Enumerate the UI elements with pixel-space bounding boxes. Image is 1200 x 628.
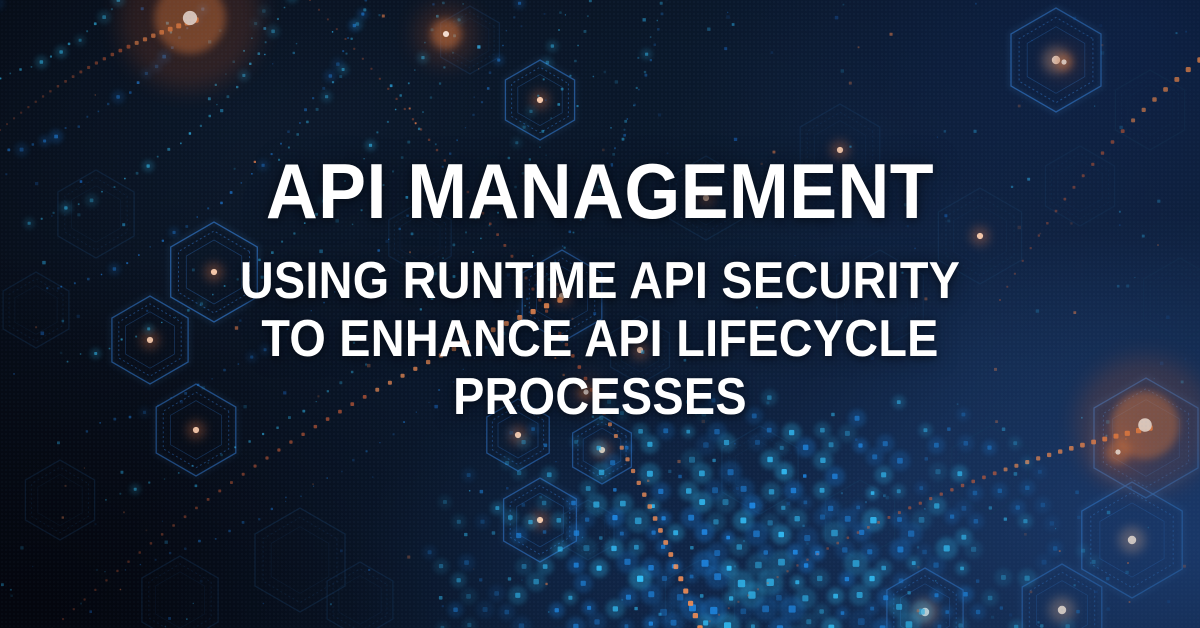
hexagon-outline-icon <box>562 500 614 560</box>
hexagon-outline-icon <box>952 426 1028 514</box>
glowing-orange-node <box>119 0 262 89</box>
dot-arc <box>7 0 221 157</box>
hexagon-outline-icon <box>825 480 894 560</box>
banner-text-block: API MANAGEMENT USING RUNTIME API SECURIT… <box>0 152 1200 427</box>
hexagon-outline-icon <box>1021 563 1102 628</box>
banner-canvas: API MANAGEMENT USING RUNTIME API SECURIT… <box>0 0 1200 628</box>
hexagon-outline-icon <box>1081 481 1183 599</box>
dot-arc <box>0 0 133 83</box>
hexagon-outline-icon <box>505 59 576 141</box>
hexagon-outline-icon <box>142 556 218 628</box>
hexagon-outline-icon <box>255 508 345 612</box>
hexagon-outline-icon <box>503 477 577 563</box>
hexagon-outline-icon <box>327 562 393 628</box>
trail-bottom-right <box>699 425 1153 628</box>
glowing-orange-node <box>1047 45 1081 79</box>
hexagon-outline-icon <box>722 426 798 514</box>
page-subtitle: USING RUNTIME API SECURITY TO ENHANCE AP… <box>204 252 996 427</box>
trail-top-left <box>0 17 199 131</box>
page-title: API MANAGEMENT <box>48 152 1152 230</box>
dot-arc <box>0 0 32 18</box>
hexagon-outline-icon <box>886 567 964 628</box>
dot-arc <box>278 0 369 161</box>
glowing-orange-node <box>1094 428 1142 476</box>
hexagon-outline-icon <box>1010 7 1102 113</box>
hexagon-outline-icon <box>665 560 734 628</box>
hexagon-outline-icon <box>441 6 500 74</box>
glowing-orange-node <box>415 3 476 64</box>
hexagon-outline-icon <box>25 460 94 540</box>
hexagon-outline-icon <box>1115 70 1184 150</box>
dot-arc <box>208 0 275 100</box>
